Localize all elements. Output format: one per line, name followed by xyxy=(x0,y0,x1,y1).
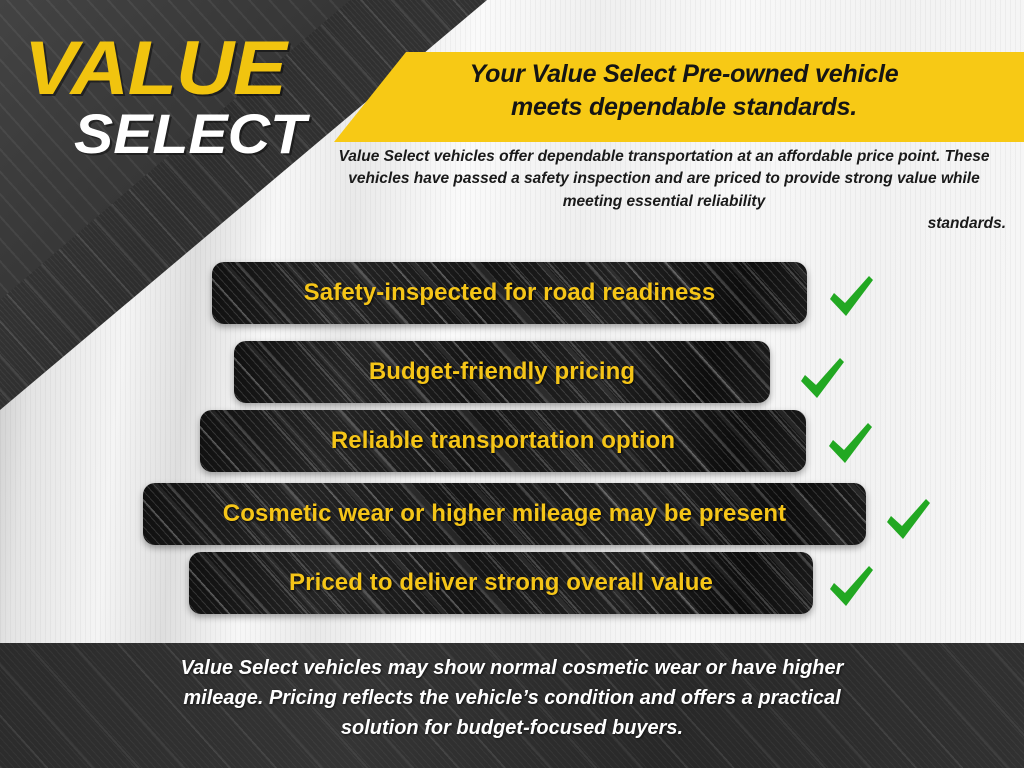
feature-row: Safety-inspected for road readiness xyxy=(212,262,877,324)
footer-line-1: Value Select vehicles may show normal co… xyxy=(97,653,927,683)
check-icon xyxy=(824,419,876,471)
feature-pill: Cosmetic wear or higher mileage may be p… xyxy=(143,483,866,545)
footer-disclaimer: Value Select vehicles may show normal co… xyxy=(0,643,1024,768)
footer-line-3: solution for budget-focused buyers. xyxy=(97,713,927,743)
feature-label: Reliable transportation option xyxy=(331,427,675,455)
feature-pill: Priced to deliver strong overall value xyxy=(189,552,813,614)
feature-label: Safety-inspected for road readiness xyxy=(304,279,716,307)
feature-label: Cosmetic wear or higher mileage may be p… xyxy=(223,500,786,528)
check-icon xyxy=(825,272,877,324)
footer-line-2: mileage. Pricing reflects the vehicle’s … xyxy=(97,683,927,713)
check-icon xyxy=(796,354,848,406)
feature-row: Reliable transportation option xyxy=(200,410,876,472)
footer-text: Value Select vehicles may show normal co… xyxy=(97,653,927,743)
check-icon xyxy=(882,495,934,547)
check-icon xyxy=(825,562,877,614)
feature-label: Budget-friendly pricing xyxy=(369,358,635,386)
feature-row: Budget-friendly pricing xyxy=(234,338,848,406)
feature-pill: Budget-friendly pricing xyxy=(234,341,770,403)
feature-pill: Reliable transportation option xyxy=(200,410,806,472)
feature-label: Priced to deliver strong overall value xyxy=(289,569,713,597)
value-select-banner: VALUE SELECT Your Value Select Pre-owned… xyxy=(0,0,1024,768)
feature-pill: Safety-inspected for road readiness xyxy=(212,262,807,324)
feature-row: Cosmetic wear or higher mileage may be p… xyxy=(143,481,934,547)
feature-row: Priced to deliver strong overall value xyxy=(189,552,877,614)
